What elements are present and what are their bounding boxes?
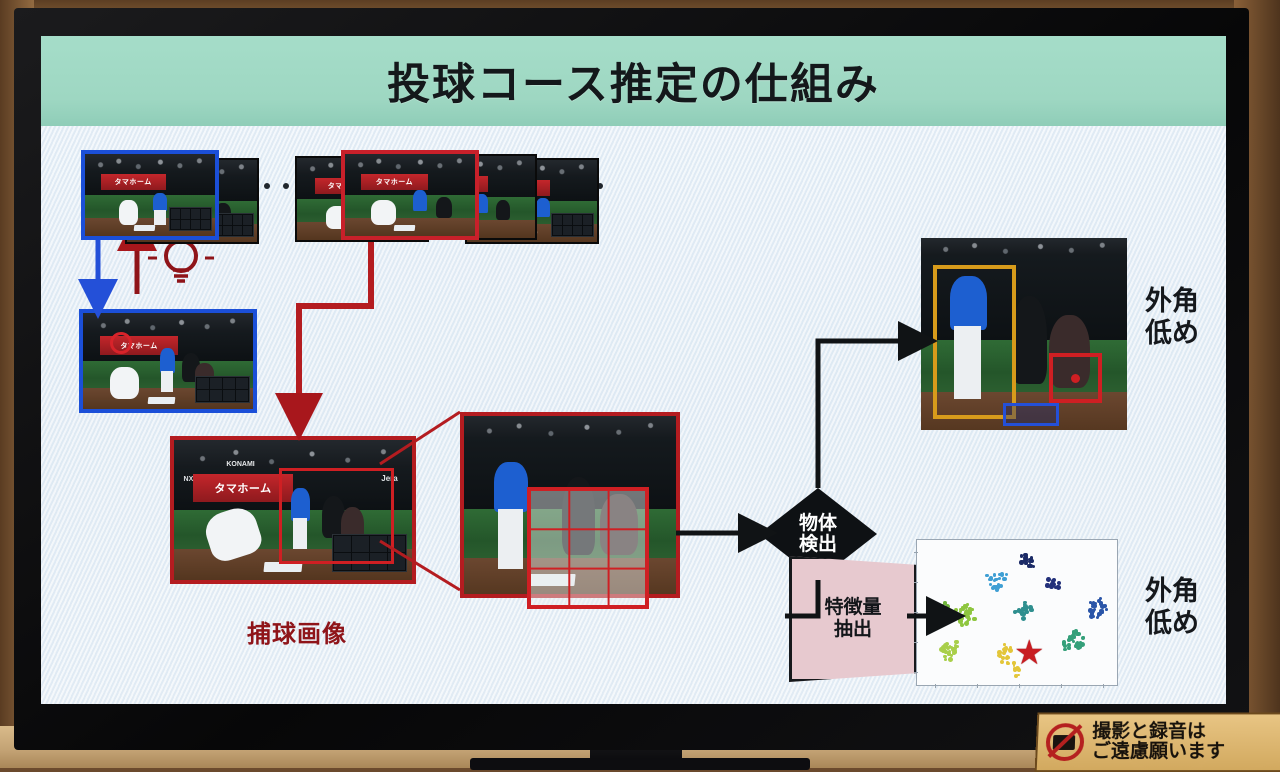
scatter-point (1000, 660, 1005, 665)
scatter-point (972, 617, 976, 621)
scatter-point (935, 610, 938, 613)
scatter-point (1075, 642, 1078, 645)
scatter-point (993, 579, 996, 582)
scatter-point (1028, 558, 1031, 561)
scatter-point (985, 574, 989, 578)
scatter-point (966, 603, 969, 606)
detection-box-base (1003, 403, 1058, 426)
crop-region-box (279, 468, 394, 564)
scatter-point (1079, 641, 1082, 644)
scatter-point (944, 658, 947, 661)
scatter-point (961, 617, 964, 620)
scatter-point (993, 573, 996, 576)
scatter-point (1092, 605, 1095, 608)
scatter-point (1000, 572, 1005, 577)
scoreboard-overlay (551, 213, 594, 237)
scatter-point (1007, 656, 1010, 659)
selected-pitch-frame[interactable]: タマホーム (79, 309, 257, 413)
scatter-point (1002, 651, 1006, 655)
scatter-point (935, 619, 938, 622)
scatter-point (954, 608, 958, 612)
scatter-point (1046, 577, 1051, 582)
scatter-point (1023, 556, 1027, 560)
scatter-point (954, 651, 958, 655)
feature-extraction-label: 特徴量抽出 (824, 597, 881, 641)
catch-image-caption: 捕球画像 (247, 614, 347, 649)
scatter-point (964, 621, 969, 626)
ad-board-konami: KONAMI (226, 461, 254, 468)
filmstrip-frame-1[interactable]: タマホーム (81, 150, 219, 240)
scatter-point (965, 614, 970, 619)
axis-tick (914, 642, 918, 643)
scatter-point (1075, 632, 1079, 636)
object-detection-result[interactable] (921, 238, 1127, 430)
catch-image-wide[interactable]: タマホーム KONAMI NX Jera (170, 436, 416, 584)
scatter-point (959, 608, 963, 612)
result-label-bottom: 外角低め (1145, 576, 1199, 641)
object-detection-label: 物体検出 (799, 513, 837, 556)
ad-board: タマホーム (101, 174, 166, 190)
scatter-point (1008, 648, 1013, 653)
scatter-point (1092, 615, 1095, 618)
scatter-point (1002, 577, 1007, 582)
scatter-point (1023, 604, 1028, 609)
arrow-frame-to-catch (299, 238, 371, 411)
tv-stand-foot (470, 758, 810, 770)
scatter-point (1097, 599, 1101, 603)
axis-tick (1103, 684, 1104, 688)
scatter-point (1021, 616, 1026, 621)
scatter-point (1005, 573, 1008, 576)
result-label-top: 外角低め (1145, 286, 1199, 351)
scatter-point (927, 614, 930, 617)
no-photography-sign: 撮影と録音はご遠慮願います (1035, 712, 1280, 772)
scatter-point (949, 645, 952, 648)
scatter-point (1007, 662, 1010, 665)
axis-tick (1061, 684, 1062, 688)
no-camera-icon (1045, 723, 1084, 761)
scatter-query-star: ★ (1014, 636, 1044, 670)
scatter-point (927, 619, 932, 624)
sign-text: 撮影と録音はご遠慮願います (1091, 722, 1225, 762)
tv-screen: 投球コース推定の仕組み タマホーム タマホーム (41, 36, 1226, 704)
scatter-point (1091, 609, 1095, 613)
slide-title-band: 投球コース推定の仕組み (41, 36, 1226, 126)
scatter-point (1067, 638, 1071, 642)
axis-tick (977, 684, 978, 688)
scatter-point (948, 657, 953, 662)
axis-tick (935, 684, 936, 688)
feature-extraction-node[interactable]: 特徴量抽出 (789, 556, 917, 682)
filmstrip-frame-4-selected[interactable]: タマホーム (341, 150, 479, 240)
axis-tick (914, 552, 918, 553)
scatter-point (1028, 605, 1033, 610)
scatter-point (1073, 635, 1077, 639)
scatter-point (937, 615, 942, 620)
scatter-point (1003, 643, 1006, 646)
ad-board-nx: NX (184, 476, 194, 483)
arrow-detect-to-result (818, 341, 913, 488)
axis-tick (914, 582, 918, 583)
scatter-point (944, 650, 948, 654)
scoreboard-overlay (169, 207, 212, 231)
feature-space-scatter-plot[interactable]: ★ (916, 539, 1118, 686)
presentation-slide: 投球コース推定の仕組み タマホーム タマホーム (41, 36, 1226, 704)
scatter-point (1051, 582, 1056, 587)
ad-board: タマホーム (361, 174, 429, 190)
scatter-point (1097, 614, 1100, 617)
scatter-point (1017, 674, 1020, 677)
axis-tick (914, 672, 918, 673)
scatter-point (1105, 608, 1108, 611)
scoreboard-overlay (195, 376, 250, 403)
room-background: 投球コース推定の仕組み タマホーム タマホーム (0, 0, 1280, 768)
scatter-point (942, 615, 945, 618)
scatter-point (932, 621, 935, 624)
strike-zone-grid-overlay (527, 487, 649, 609)
scatter-point (997, 654, 1000, 657)
scatter-point (998, 577, 1001, 580)
axis-tick (1019, 684, 1020, 688)
scatter-point (968, 607, 971, 610)
scatter-point (1032, 565, 1035, 568)
detection-box-ball (1049, 353, 1102, 403)
scatter-point (1057, 581, 1062, 586)
detection-box-batter (933, 265, 1015, 419)
page-title: 投球コース推定の仕組み (387, 50, 880, 112)
axis-tick (914, 612, 918, 613)
